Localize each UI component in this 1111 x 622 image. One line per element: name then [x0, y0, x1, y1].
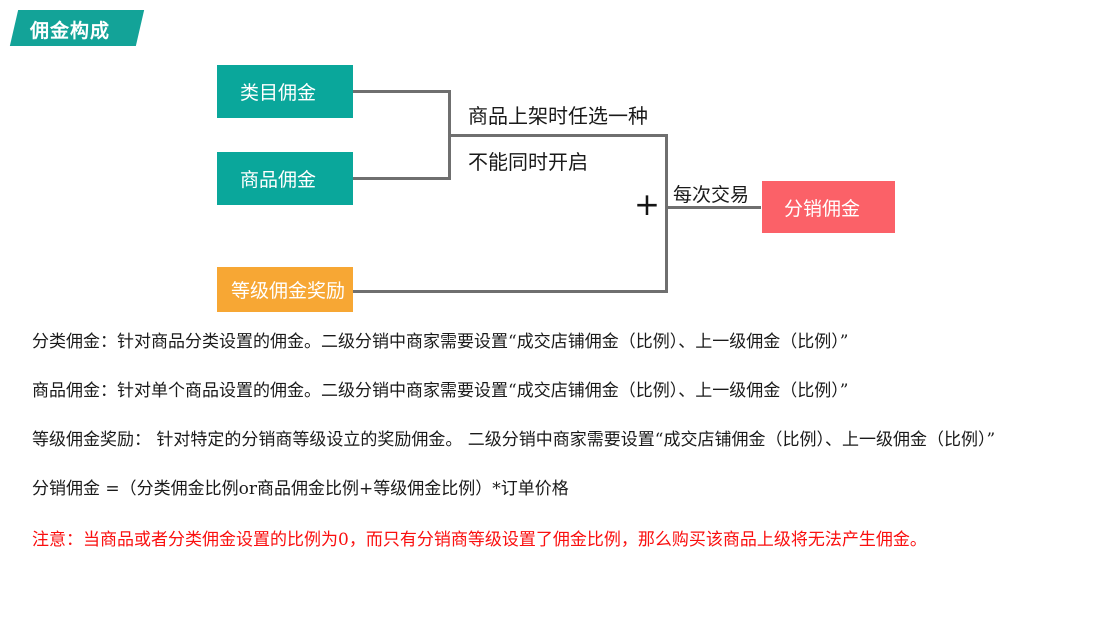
plus-operator-icon: +	[634, 190, 660, 221]
paragraph-warning: 注意：当商品或者分类佣金设置的比例为0，而只有分销商等级设置了佣金比例，那么购买…	[32, 525, 1087, 555]
paragraph-formula: 分销佣金 =（分类佣金比例or商品佣金比例+等级佣金比例）*订单价格	[32, 474, 1087, 504]
connector-inner-bracket-stem	[448, 134, 490, 137]
connector-product-horizontal	[353, 177, 451, 180]
label-not-both: 不能同时开启	[468, 146, 588, 175]
label-choose-one: 商品上架时任选一种	[468, 100, 648, 129]
node-distribution-commission-label: 分销佣金	[784, 194, 860, 221]
node-category-commission-label: 类目佣金	[240, 78, 316, 105]
node-level-commission-reward-label: 等级佣金奖励	[231, 276, 345, 303]
paragraph-product-commission: 商品佣金：针对单个商品设置的佣金。二级分销中商家需要设置“成交店铺佣金（比例）、…	[32, 376, 1087, 406]
page-canvas: 佣金构成 类目佣金 商品佣金 等级佣金奖励 分销佣金 商品上架时任选一种 不能同…	[0, 0, 1111, 622]
node-product-commission[interactable]: 商品佣金	[217, 152, 353, 205]
node-category-commission[interactable]: 类目佣金	[217, 65, 353, 118]
node-level-commission-reward[interactable]: 等级佣金奖励	[217, 267, 353, 312]
paragraph-category-commission: 分类佣金：针对商品分类设置的佣金。二级分销中商家需要设置“成交店铺佣金（比例）、…	[32, 327, 1087, 357]
label-each-transaction: 每次交易	[673, 180, 749, 207]
node-distribution-commission[interactable]: 分销佣金	[762, 181, 895, 233]
paragraph-level-commission: 等级佣金奖励： 针对特定的分销商等级设立的奖励佣金。 二级分销中商家需要设置“成…	[32, 425, 1087, 455]
description-block: 分类佣金：针对商品分类设置的佣金。二级分销中商家需要设置“成交店铺佣金（比例）、…	[32, 327, 1087, 555]
connector-category-horizontal	[353, 90, 451, 93]
connector-middle-horizontal	[488, 134, 668, 137]
connector-outer-bracket-vertical	[665, 134, 668, 293]
node-product-commission-label: 商品佣金	[240, 165, 316, 192]
connector-level-horizontal	[353, 290, 668, 293]
section-title: 佣金构成	[30, 16, 110, 43]
